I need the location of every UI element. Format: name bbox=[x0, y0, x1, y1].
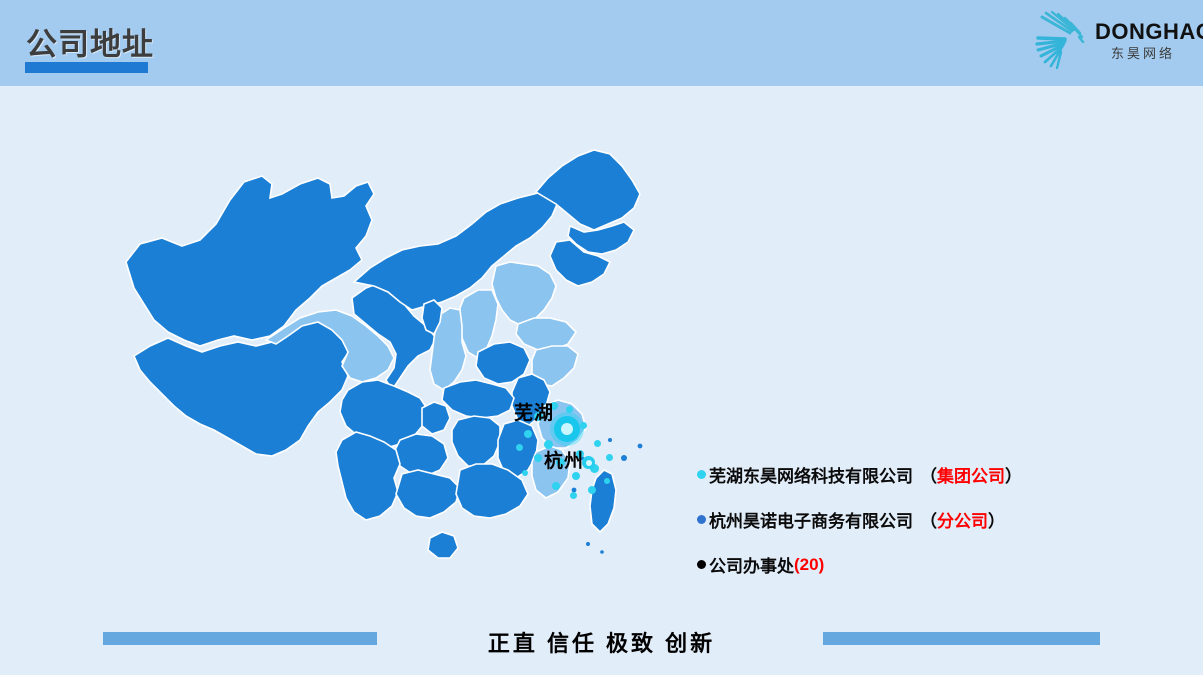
legend-item-label: 杭州昊诺电子商务有限公司 bbox=[709, 507, 913, 532]
page-title: 公司地址 bbox=[26, 19, 154, 64]
legend-bullet-icon bbox=[697, 560, 706, 569]
office-dot bbox=[534, 454, 542, 462]
china-map-svg bbox=[104, 140, 684, 610]
province-taiwan bbox=[590, 470, 616, 532]
islet bbox=[638, 444, 643, 449]
logo-name: DONGHAO bbox=[1095, 20, 1191, 44]
office-dot bbox=[606, 454, 613, 461]
title-underline bbox=[25, 62, 148, 73]
province-guangxi bbox=[396, 470, 460, 518]
office-dot bbox=[572, 472, 580, 480]
page-header: 公司地址 DONG bbox=[0, 0, 1203, 86]
logo-subtitle: 东昊网络 bbox=[1095, 45, 1191, 63]
legend-item-offices[interactable]: 公司办事处 (20) bbox=[697, 552, 1127, 577]
legend-item-group[interactable]: 芜湖东昊网络科技有限公司 （集团公司） bbox=[697, 462, 1127, 487]
city-label-wuhu: 芜湖 bbox=[514, 398, 554, 425]
province-hebei bbox=[492, 262, 556, 326]
office-dot bbox=[594, 440, 601, 447]
office-dot bbox=[552, 482, 560, 490]
logo-text-block: DONGHAO 东昊网络 bbox=[1095, 20, 1191, 63]
office-dot bbox=[516, 444, 523, 451]
legend: 芜湖东昊网络科技有限公司 （集团公司） 杭州昊诺电子商务有限公司 （分公司） 公… bbox=[697, 462, 1127, 577]
china-map: 芜湖 杭州 bbox=[104, 140, 684, 610]
feather-fan-icon bbox=[1031, 8, 1093, 72]
legend-item-branch[interactable]: 杭州昊诺电子商务有限公司 （分公司） bbox=[697, 507, 1127, 532]
islet bbox=[600, 550, 604, 554]
province-hubei bbox=[442, 380, 514, 418]
islet bbox=[621, 455, 627, 461]
office-dot bbox=[588, 486, 596, 494]
province-guizhou bbox=[394, 434, 448, 476]
office-dot bbox=[580, 422, 587, 429]
legend-item-count: (20) bbox=[794, 555, 824, 575]
legend-item-label: 芜湖东昊网络科技有限公司 bbox=[709, 462, 913, 487]
company-logo: DONGHAO 东昊网络 bbox=[1031, 6, 1191, 74]
province-heilongjiang bbox=[536, 150, 640, 230]
city-label-hangzhou: 杭州 bbox=[544, 446, 584, 473]
province-hunan bbox=[452, 416, 500, 466]
office-dot bbox=[522, 470, 528, 476]
office-dot bbox=[524, 430, 532, 438]
islet bbox=[608, 438, 612, 442]
footer-bar-right bbox=[823, 632, 1100, 645]
office-dot bbox=[566, 406, 573, 413]
province-hainan bbox=[428, 532, 458, 558]
legend-item-note: （集团公司） bbox=[920, 462, 1022, 487]
office-dot bbox=[604, 478, 610, 484]
marker-wuhu[interactable] bbox=[554, 416, 580, 442]
islet bbox=[586, 542, 590, 546]
legend-bullet-icon bbox=[697, 515, 706, 524]
legend-item-label: 公司办事处 bbox=[709, 552, 794, 577]
province-chongqing bbox=[422, 402, 450, 434]
office-dot bbox=[570, 492, 577, 499]
legend-item-note: （分公司） bbox=[920, 507, 1005, 532]
legend-bullet-icon bbox=[697, 470, 706, 479]
